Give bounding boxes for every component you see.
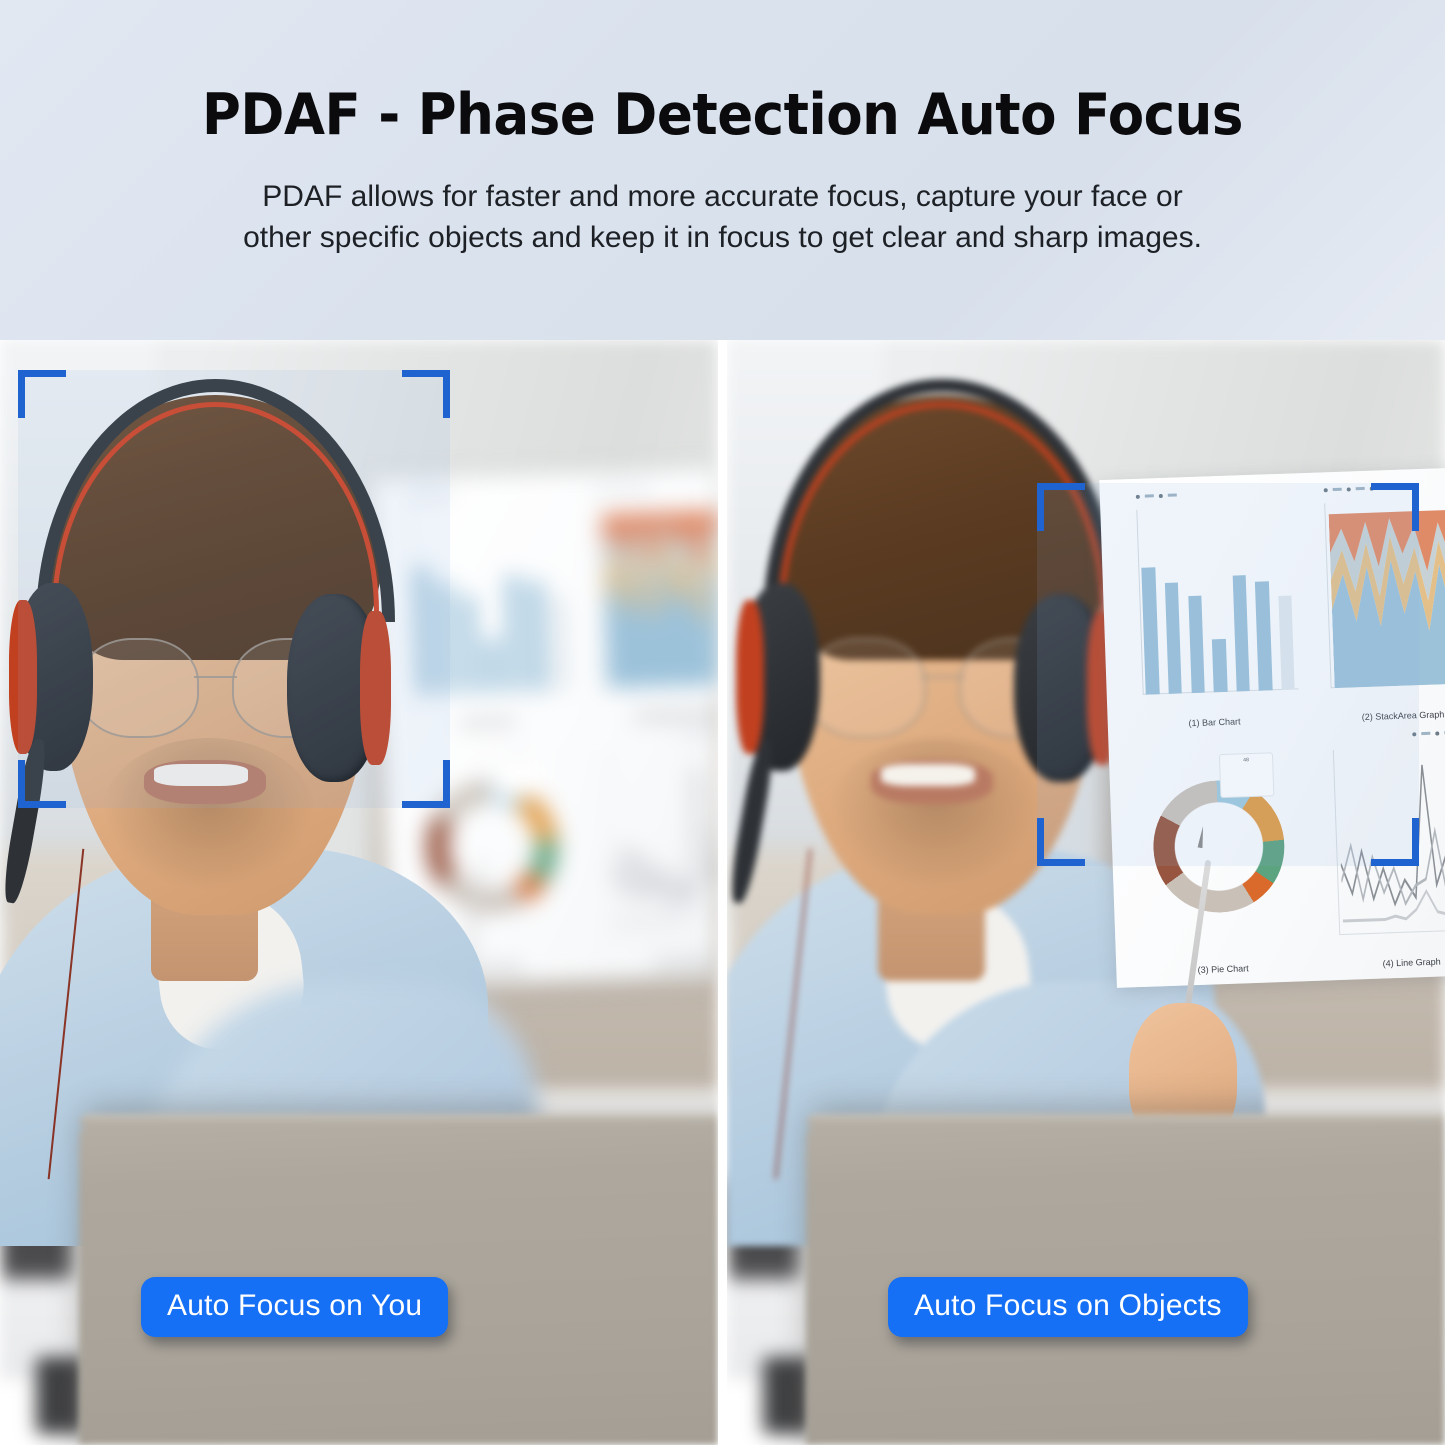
pane-auto-focus-on-you: (1) Bar Chart	[0, 340, 718, 1445]
subtitle-line-2: other specific objects and keep it in fo…	[113, 217, 1333, 258]
laptop-lid-edge	[79, 1114, 718, 1124]
page-subtitle: PDAF allows for faster and more accurate…	[113, 176, 1333, 259]
pdaf-feature-page: PDAF - Phase Detection Auto Focus PDAF a…	[0, 0, 1445, 1445]
page-title: PDAF - Phase Detection Auto Focus	[51, 82, 1395, 148]
header-banner: PDAF - Phase Detection Auto Focus PDAF a…	[0, 0, 1445, 340]
badge-auto-focus-on-you[interactable]: Auto Focus on You	[141, 1277, 448, 1337]
pane-auto-focus-on-objects: (1) Bar Chart	[727, 340, 1445, 1445]
pane-divider	[718, 340, 727, 1445]
laptop-lid-edge	[806, 1114, 1445, 1124]
comparison-panes: (1) Bar Chart	[0, 340, 1445, 1445]
subtitle-line-1: PDAF allows for faster and more accurate…	[113, 176, 1333, 217]
badge-auto-focus-on-objects[interactable]: Auto Focus on Objects	[888, 1277, 1248, 1337]
